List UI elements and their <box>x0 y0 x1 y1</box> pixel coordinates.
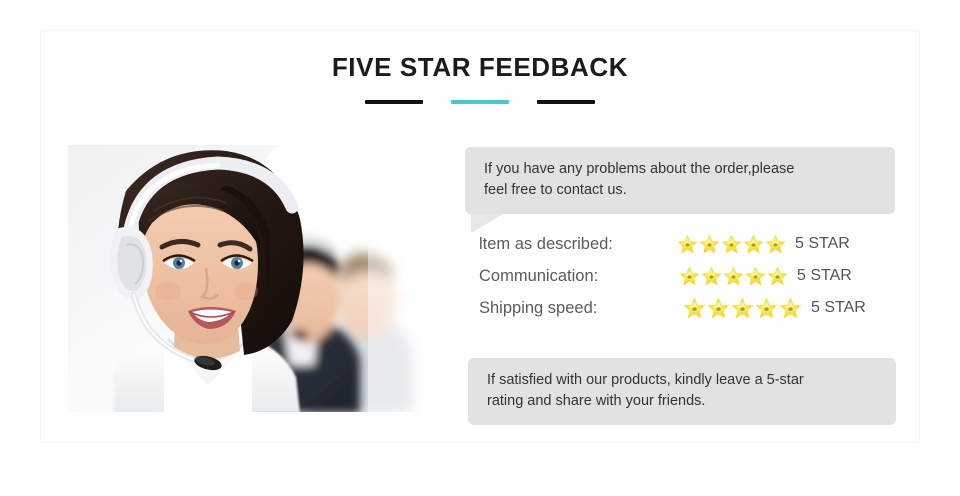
star-icon <box>699 234 720 255</box>
divider-dash-accent <box>451 100 509 104</box>
star-icon <box>707 297 730 320</box>
star-icon <box>701 266 722 287</box>
contact-message-bubble: If you have any problems about the order… <box>465 147 895 214</box>
feedback-details: If you have any problems about the order… <box>465 145 897 415</box>
star-icon <box>731 297 754 320</box>
star-icon <box>677 234 698 255</box>
rating-row: Shipping speed: 5 STAR <box>479 292 899 324</box>
star-rating-group <box>683 297 802 320</box>
rating-value: 5 STAR <box>797 267 852 285</box>
star-icon <box>745 266 766 287</box>
star-icon <box>721 234 742 255</box>
divider-dash-right <box>537 100 595 104</box>
rating-label: Shipping speed: <box>479 299 677 318</box>
page-title: FIVE STAR FEEDBACK <box>0 52 960 83</box>
star-icon <box>755 297 778 320</box>
feedback-banner: FIVE STAR FEEDBACK <box>0 0 960 496</box>
rating-request-line1: If satisfied with our products, kindly l… <box>487 370 880 391</box>
rating-value: 5 STAR <box>811 299 866 317</box>
rating-value: 5 STAR <box>795 235 850 253</box>
star-rating-group <box>677 234 786 255</box>
rating-label: Communication: <box>479 267 677 286</box>
contact-message-line2: feel free to contact us. <box>484 180 879 201</box>
rating-request-line2: rating and share with your friends. <box>487 391 880 412</box>
star-rating-group <box>679 266 788 287</box>
star-icon <box>723 266 744 287</box>
rating-row: ltem as described: 5 STAR <box>479 228 899 260</box>
ratings-list: ltem as described: 5 STAR Communication: <box>479 228 899 324</box>
rating-row: Communication: 5 STAR <box>479 260 899 292</box>
divider-dash-left <box>365 100 423 104</box>
customer-service-photo <box>68 145 443 412</box>
star-icon <box>767 266 788 287</box>
contact-message-line1: If you have any problems about the order… <box>484 159 879 180</box>
star-icon <box>683 297 706 320</box>
rating-request-bubble: If satisfied with our products, kindly l… <box>468 358 896 425</box>
star-icon <box>743 234 764 255</box>
rating-label: ltem as described: <box>479 235 677 254</box>
star-icon <box>679 266 700 287</box>
title-divider <box>0 100 960 104</box>
star-icon <box>765 234 786 255</box>
star-icon <box>779 297 802 320</box>
